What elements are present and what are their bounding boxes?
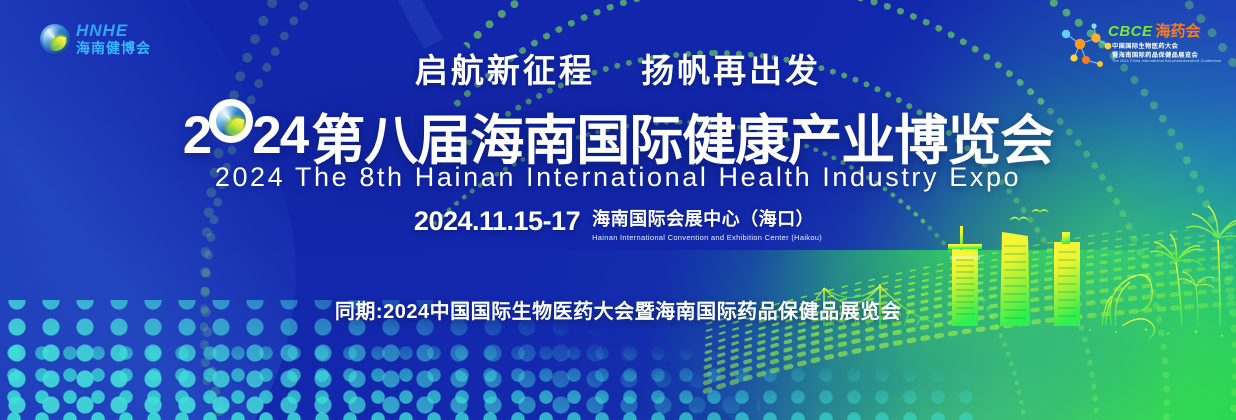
ground-dots [1089,329,1223,338]
cbce-cn-short: 海药会 [1156,20,1201,41]
title-emblem-icon [209,99,253,143]
cbce-acronym: CBCE [1108,23,1153,40]
venue-block: 海南国际会展中心（海口） Hainan International Conven… [592,208,822,242]
title-year-first-digit: 2 [183,106,210,165]
slogan: 启航新征程 扬帆再出发 [0,44,1236,92]
expo-banner: HNHE 海南健博会 CBCE 海药会 中国国际生物医药 [0,0,1236,420]
hnhe-logo-en: HNHE [76,22,151,39]
venue-english: Hainan International Convention and Exhi… [592,233,822,242]
slogan-part2: 扬帆再出发 [641,52,821,89]
event-date: 2024.11.15-17 [414,208,580,235]
date-venue-row: 2024.11.15-17 海南国际会展中心（海口） Hainan Intern… [0,208,1236,242]
subtitle-english: 2024 The 8th Hainan International Health… [0,162,1236,193]
cbce-logo-top: CBCE 海药会 [1108,20,1201,41]
venue-chinese: 海南国际会展中心（海口） [592,209,822,231]
concurrent-event-line: 同期:2024中国国际生物医药大会暨海南国际药品保健品展览会 [0,295,1236,324]
title-year-rest: 24 [252,106,307,165]
slogan-part1: 启航新征程 [415,52,595,89]
